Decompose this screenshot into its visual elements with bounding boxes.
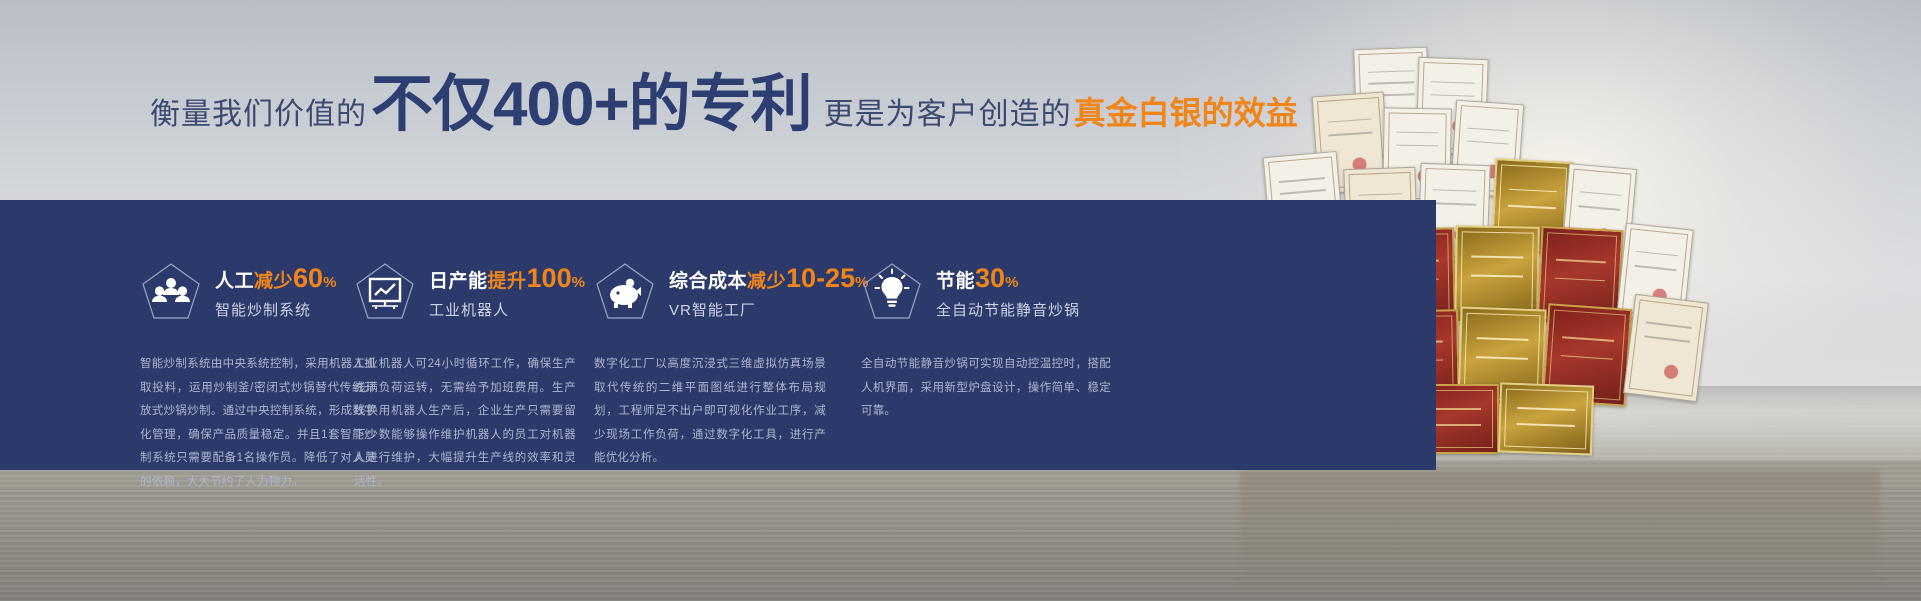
feature-title-unit: % (572, 274, 585, 291)
feature-title: 综合成本减少10-25% (669, 265, 868, 292)
feature-subtitle: VR智能工厂 (669, 299, 868, 320)
feature-body: 工业机器人可24小时循环工作，确保生产线满负荷运转，无需给予加班费用。生产线换用… (354, 353, 576, 494)
headline-middle: 更是为客户创造的 (824, 89, 1072, 133)
feature-body: 全自动节能静音炒锅可实现自动控温控时，搭配人机界面，采用新型炉盘设计，操作简单、… (861, 353, 1111, 424)
feature-header: 日产能提升100% 工业机器人 (354, 255, 589, 329)
headline-highlight: 真金白银的效益 (1074, 88, 1298, 134)
headline: 衡量我们价值的 不仅400+的专利 更是为客户创造的 真金白银的效益 (150, 74, 1298, 136)
features-panel: 人工减少60% 智能炒制系统 智能炒制系统由中央系统控制，采用机器人抓取投料，运… (0, 200, 1436, 470)
feature-title-number: 30 (975, 263, 1005, 293)
feature-title: 节能30% (936, 265, 1080, 292)
feature-title-label: 日产能 (429, 271, 488, 292)
feature-card-2: 日产能提升100% 工业机器人 工业机器人可24小时循环工作，确保生产线满负荷运… (341, 200, 589, 470)
feature-header: 人工减少60% 智能炒制系统 (140, 255, 341, 329)
feature-header: 综合成本减少10-25% VR智能工厂 (594, 255, 847, 329)
award-plaque (1498, 382, 1594, 455)
feature-title-verb: 减少 (747, 271, 786, 292)
feature-title-number: 10-25 (786, 263, 855, 293)
certificate-reflection (1240, 470, 1880, 590)
feature-title: 日产能提升100% (429, 265, 585, 292)
headline-prefix: 衡量我们价值的 (150, 89, 367, 133)
feature-subtitle: 工业机器人 (429, 299, 585, 320)
banner-stage: 衡量我们价值的 不仅400+的专利 更是为客户创造的 真金白银的效益 (0, 0, 1921, 601)
feature-header: 节能30% 全自动节能静音炒锅 (861, 255, 1147, 329)
feature-subtitle: 智能炒制系统 (215, 299, 336, 320)
feature-card-1: 人工减少60% 智能炒制系统 智能炒制系统由中央系统控制，采用机器人抓取投料，运… (0, 200, 341, 470)
certificate (1623, 294, 1709, 402)
lightbulb-icon (861, 261, 923, 323)
feature-title-unit: % (1005, 274, 1018, 291)
piggy-bank-icon (594, 261, 656, 323)
feature-title-verb: 减少 (254, 271, 293, 292)
feature-body: 数字化工厂以高度沉浸式三维虚拟仿真场景取代传统的二维平面图纸进行整体布局规划，工… (594, 353, 826, 471)
feature-card-4: 节能30% 全自动节能静音炒锅 全自动节能静音炒锅可实现自动控温控时，搭配人机界… (847, 200, 1147, 470)
feature-title-unit: % (323, 274, 336, 291)
headline-emphasis: 不仅400+的专利 (371, 74, 812, 136)
feature-title-label: 人工 (215, 271, 254, 292)
feature-title-verb: 提升 (488, 271, 527, 292)
people-group-icon (140, 261, 202, 323)
feature-card-3: 综合成本减少10-25% VR智能工厂 数字化工厂以高度沉浸式三维虚拟仿真场景取… (589, 200, 847, 470)
feature-title-number: 60 (293, 263, 323, 293)
feature-title: 人工减少60% (215, 265, 336, 292)
chart-board-icon (354, 261, 416, 323)
feature-title-number: 100 (527, 263, 572, 293)
feature-subtitle: 全自动节能静音炒锅 (936, 299, 1080, 320)
feature-title-label: 综合成本 (669, 271, 747, 292)
feature-title-label: 节能 (936, 271, 975, 292)
